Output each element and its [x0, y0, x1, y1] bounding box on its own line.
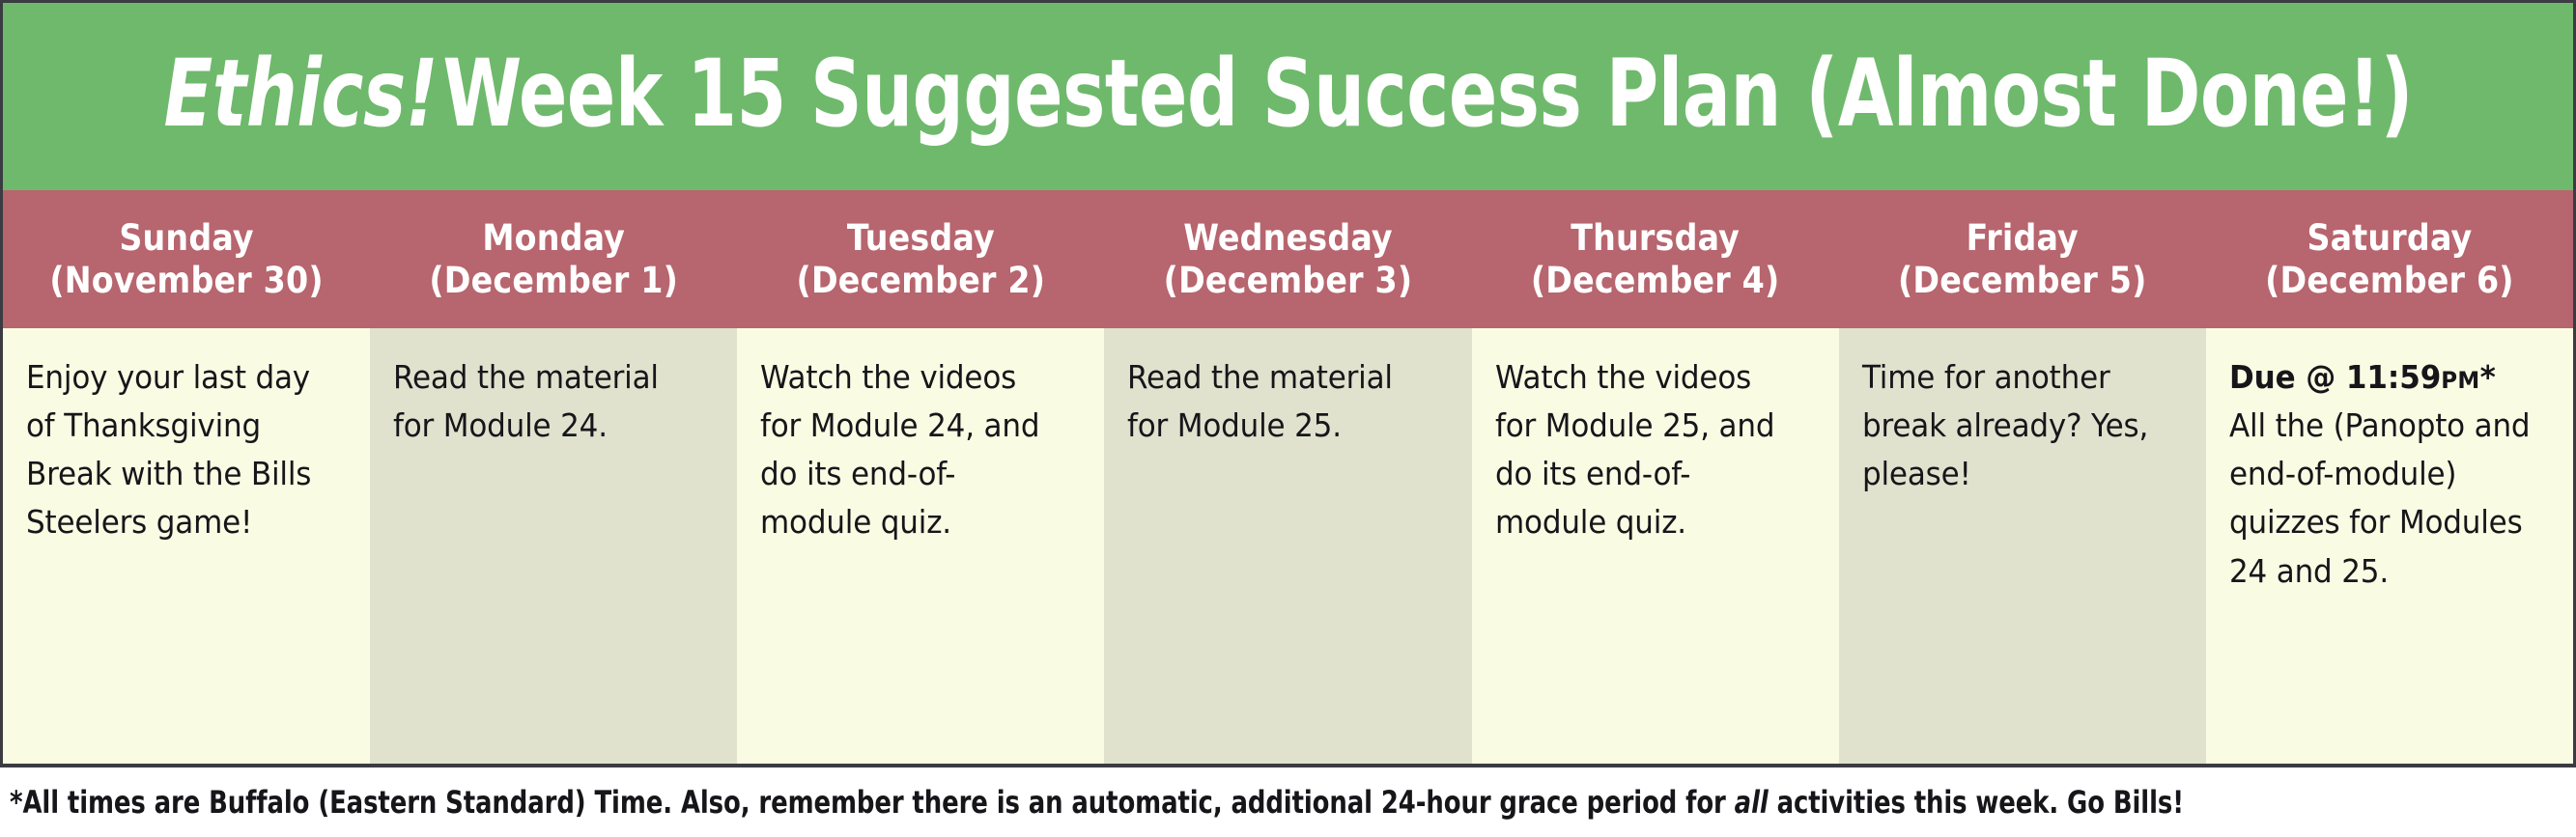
day-header-wednesday-dow: Wednesday	[1183, 217, 1393, 260]
day-header-sunday-dow: Sunday	[119, 217, 253, 260]
day-header-monday-dow: Monday	[482, 217, 625, 260]
day-header-saturday: Saturday (December 6)	[2206, 190, 2573, 328]
day-cells-row: Enjoy your last day of Thanksgiving Brea…	[3, 328, 2573, 767]
day-header-friday: Friday (December 5)	[1839, 190, 2206, 328]
day-cell-thursday: Watch the videos for Module 25, and do i…	[1472, 328, 1839, 767]
day-header-row: Sunday (November 30) Monday (December 1)…	[3, 190, 2573, 328]
day-header-sunday: Sunday (November 30)	[3, 190, 370, 328]
day-header-friday-date: (December 5)	[1898, 260, 2147, 302]
page-title-rest: Week 15 Suggested Success Plan (Almost D…	[442, 40, 2413, 148]
due-badge-label: Due @ 11:59	[2229, 358, 2441, 396]
day-cell-saturday: Due @ 11:59PM*All the (Panopto and end-o…	[2206, 328, 2573, 767]
day-cell-tuesday-text: Watch the videos for Module 24, and do i…	[760, 353, 1062, 547]
day-header-tuesday-date: (December 2)	[797, 260, 1046, 302]
day-cell-friday-text: Time for another break already? Yes, ple…	[1862, 353, 2164, 498]
day-cell-wednesday: Read the material for Module 25.	[1104, 328, 1471, 767]
day-cell-monday: Read the material for Module 24.	[370, 328, 737, 767]
day-header-monday-date: (December 1)	[429, 260, 678, 302]
day-header-monday: Monday (December 1)	[370, 190, 737, 328]
day-header-friday-dow: Friday	[1967, 217, 2079, 260]
due-badge: Due @ 11:59PM*	[2229, 353, 2531, 402]
day-cell-tuesday: Watch the videos for Module 24, and do i…	[737, 328, 1104, 767]
day-header-wednesday: Wednesday (December 3)	[1104, 190, 1471, 328]
footnote: *All times are Buffalo (Eastern Standard…	[0, 767, 2576, 837]
page-title-emphasis: Ethics!	[163, 40, 442, 148]
day-cell-saturday-body: All the (Panopto and end-of-module) quiz…	[2229, 406, 2530, 589]
day-cell-wednesday-text: Read the material for Module 25.	[1127, 353, 1429, 450]
footnote-part-2: activities this week. Go Bills!	[1769, 784, 2184, 821]
footnote-part-1: *All times are Buffalo (Eastern Standard…	[10, 784, 1735, 821]
day-cell-friday: Time for another break already? Yes, ple…	[1839, 328, 2206, 767]
day-cell-monday-text: Read the material for Module 24.	[393, 353, 694, 450]
due-badge-asterisk: *	[2479, 358, 2495, 396]
day-header-sunday-date: (November 30)	[49, 260, 323, 302]
day-header-saturday-dow: Saturday	[2307, 217, 2472, 260]
day-header-tuesday-dow: Tuesday	[847, 217, 995, 260]
day-cell-sunday-text: Enjoy your last day of Thanksgiving Brea…	[26, 353, 327, 547]
footnote-text: *All times are Buffalo (Eastern Standard…	[10, 784, 2184, 821]
day-header-saturday-date: (December 6)	[2265, 260, 2514, 302]
day-header-thursday-dow: Thursday	[1571, 217, 1740, 260]
day-header-thursday: Thursday (December 4)	[1472, 190, 1839, 328]
weekly-success-plan: Ethics!Week 15 Suggested Success Plan (A…	[0, 0, 2576, 837]
due-badge-meridiem: PM	[2441, 366, 2479, 394]
day-header-wednesday-date: (December 3)	[1164, 260, 1413, 302]
footnote-emphasis: all	[1735, 784, 1769, 821]
day-cell-sunday: Enjoy your last day of Thanksgiving Brea…	[3, 328, 370, 767]
title-banner: Ethics!Week 15 Suggested Success Plan (A…	[3, 3, 2573, 190]
planner-table: Ethics!Week 15 Suggested Success Plan (A…	[0, 0, 2576, 767]
day-header-tuesday: Tuesday (December 2)	[737, 190, 1104, 328]
day-header-thursday-date: (December 4)	[1531, 260, 1780, 302]
page-title: Ethics!Week 15 Suggested Success Plan (A…	[163, 47, 2412, 140]
day-cell-thursday-text: Watch the videos for Module 25, and do i…	[1495, 353, 1797, 547]
day-cell-saturday-text: Due @ 11:59PM*All the (Panopto and end-o…	[2229, 353, 2531, 596]
